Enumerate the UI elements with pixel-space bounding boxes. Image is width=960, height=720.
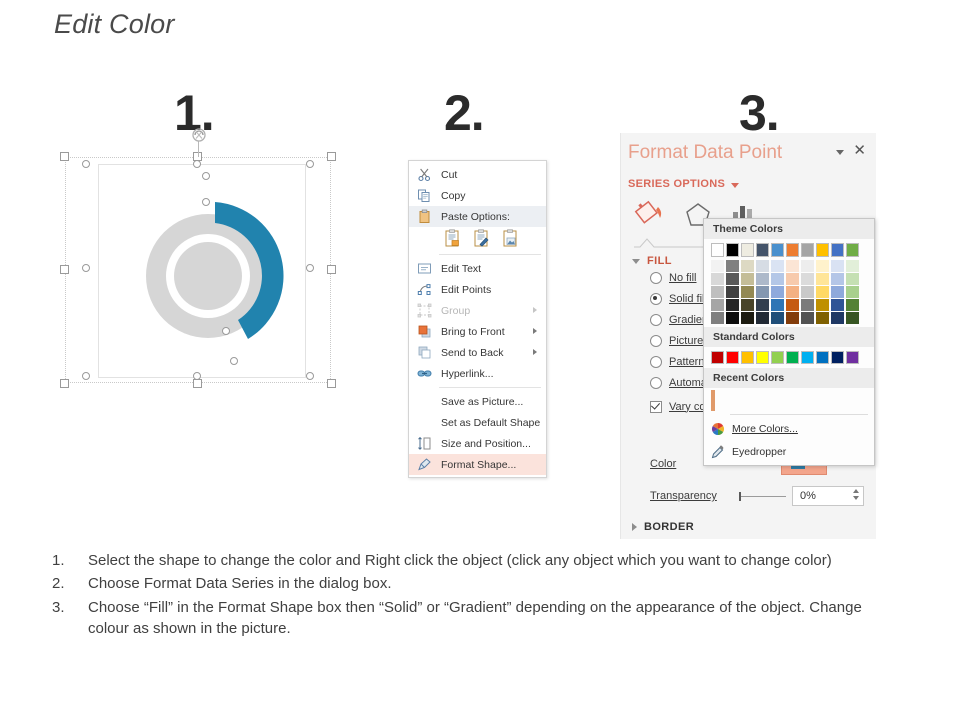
transparency-label: Transparency xyxy=(650,490,736,502)
resize-handle-bottom-right[interactable] xyxy=(327,379,336,388)
resize-handle-top-left[interactable] xyxy=(60,152,69,161)
stepper-down-icon[interactable] xyxy=(853,496,859,500)
group-icon xyxy=(417,303,432,318)
theme-swatch[interactable] xyxy=(831,286,844,298)
radio-button[interactable] xyxy=(650,335,662,347)
theme-swatch[interactable] xyxy=(711,299,724,311)
donut-chart[interactable] xyxy=(120,178,310,368)
theme-swatch[interactable] xyxy=(711,273,724,285)
context-menu-label: Format Shape... xyxy=(441,459,516,471)
copy-icon xyxy=(417,188,432,203)
standard-swatch[interactable] xyxy=(756,351,769,364)
context-menu-label: Send to Back xyxy=(441,347,503,359)
theme-swatch[interactable] xyxy=(756,299,769,311)
resize-handle-top-right[interactable] xyxy=(327,152,336,161)
standard-swatch[interactable] xyxy=(801,351,814,364)
plot-handle-left[interactable] xyxy=(82,264,90,272)
transparency-slider[interactable] xyxy=(736,490,788,502)
theme-swatch[interactable] xyxy=(846,260,859,272)
radio-button[interactable] xyxy=(650,314,662,326)
theme-swatch[interactable] xyxy=(816,260,829,272)
theme-swatch[interactable] xyxy=(786,299,799,311)
datapoint-handle-top-outer[interactable] xyxy=(202,172,210,180)
standard-swatch[interactable] xyxy=(741,351,754,364)
theme-swatch[interactable] xyxy=(831,260,844,272)
theme-swatch[interactable] xyxy=(816,312,829,324)
theme-swatch[interactable] xyxy=(711,286,724,298)
plot-handle-top-right[interactable] xyxy=(306,160,314,168)
plot-handle-bottom-center[interactable] xyxy=(193,372,201,380)
more-colors-label: More Colors... xyxy=(732,423,798,435)
instruction-item: 3. Choose “Fill” in the Format Shape box… xyxy=(52,597,892,640)
theme-swatch[interactable] xyxy=(786,243,799,257)
context-menu-item-group: Group xyxy=(409,300,546,321)
theme-swatch[interactable] xyxy=(831,312,844,324)
theme-swatch[interactable] xyxy=(816,286,829,298)
theme-colors-grid[interactable] xyxy=(704,239,874,327)
context-menu-item-size-and-position[interactable]: Size and Position... xyxy=(409,433,546,454)
chevron-right-icon xyxy=(632,523,637,531)
format-shape-icon xyxy=(417,457,432,472)
paste-use-destination-theme-icon[interactable] xyxy=(472,229,491,248)
theme-swatch[interactable] xyxy=(726,299,739,311)
context-menu-label: Copy xyxy=(441,190,466,202)
context-menu-item-copy[interactable]: Copy xyxy=(409,185,546,206)
eyedropper-label: Eyedropper xyxy=(732,446,786,458)
standard-swatch[interactable] xyxy=(771,351,784,364)
context-menu-item-paste-options[interactable]: Paste Options: xyxy=(409,206,546,227)
theme-swatch[interactable] xyxy=(711,312,724,324)
theme-swatch[interactable] xyxy=(831,243,844,257)
standard-colors-header: Standard Colors xyxy=(704,327,874,347)
transparency-stepper[interactable] xyxy=(853,489,859,500)
theme-swatch[interactable] xyxy=(711,243,724,257)
recent-colors-header: Recent Colors xyxy=(704,368,874,388)
theme-swatch[interactable] xyxy=(846,299,859,311)
rotate-handle-stem xyxy=(198,141,199,157)
instruction-item: 2. Choose Format Data Series in the dial… xyxy=(52,573,892,594)
standard-swatch[interactable] xyxy=(726,351,739,364)
theme-swatch[interactable] xyxy=(801,260,814,272)
chevron-down-icon xyxy=(731,183,739,188)
step-number-2: 2. xyxy=(444,88,484,138)
slider-track xyxy=(740,496,786,497)
context-menu[interactable]: Cut Copy Paste Options: xyxy=(408,160,547,478)
plot-handle-bottom-right[interactable] xyxy=(306,372,314,380)
theme-swatch[interactable] xyxy=(771,243,784,257)
theme-color-column[interactable] xyxy=(756,243,769,324)
instructions-list: 1. Select the shape to change the color … xyxy=(52,550,892,641)
theme-swatch[interactable] xyxy=(816,299,829,311)
stepper-up-icon[interactable] xyxy=(853,489,859,493)
theme-color-column[interactable] xyxy=(846,243,859,324)
context-menu-label: Edit Points xyxy=(441,284,491,296)
context-menu-item-edit-points[interactable]: Edit Points xyxy=(409,279,546,300)
context-menu-item-send-to-back[interactable]: Send to Back xyxy=(409,342,546,363)
resize-handle-middle-left[interactable] xyxy=(60,265,69,274)
context-menu-item-format-shape[interactable]: Format Shape... xyxy=(409,454,546,475)
step-number-3: 3. xyxy=(739,88,779,138)
theme-swatch[interactable] xyxy=(756,243,769,257)
edit-points-icon xyxy=(417,282,432,297)
datapoint-handle-bottom-inner[interactable] xyxy=(222,327,230,335)
theme-color-column[interactable] xyxy=(801,243,814,324)
radio-button[interactable] xyxy=(650,356,662,368)
theme-color-column[interactable] xyxy=(831,243,844,324)
theme-swatch[interactable] xyxy=(741,260,754,272)
theme-swatch[interactable] xyxy=(801,243,814,257)
theme-swatch[interactable] xyxy=(741,312,754,324)
fill-header-label: FILL xyxy=(647,255,672,267)
datapoint-handle-top-inner[interactable] xyxy=(202,198,210,206)
datapoint-handle-bottom-outer[interactable] xyxy=(230,357,238,365)
context-menu-label: Set as Default Shape xyxy=(441,417,540,429)
clipboard-icon xyxy=(417,209,432,224)
standard-colors-row[interactable] xyxy=(704,347,874,368)
picker-separator xyxy=(730,414,868,415)
context-menu-item-bring-to-front[interactable]: Bring to Front xyxy=(409,321,546,342)
theme-swatch[interactable] xyxy=(741,273,754,285)
resize-handle-bottom-left[interactable] xyxy=(60,379,69,388)
series-options-dropdown[interactable]: SERIES OPTIONS xyxy=(628,178,739,190)
border-section-header[interactable]: BORDER xyxy=(632,521,694,533)
theme-swatch[interactable] xyxy=(801,312,814,324)
context-menu-label: Paste Options: xyxy=(441,211,510,223)
fill-option-label: No fill xyxy=(669,272,697,284)
instruction-text: Select the shape to change the color and… xyxy=(88,550,892,571)
context-menu-item-edit-text[interactable]: Edit Text xyxy=(409,258,546,279)
resize-handle-middle-right[interactable] xyxy=(327,265,336,274)
theme-swatch[interactable] xyxy=(726,260,739,272)
context-menu-item-save-as-picture[interactable]: Save as Picture... xyxy=(409,391,546,412)
close-icon[interactable]: ✕ xyxy=(853,143,866,158)
context-menu-item-set-as-default-shape[interactable]: Set as Default Shape xyxy=(409,412,546,433)
submenu-arrow-icon xyxy=(533,307,537,313)
instruction-number: 2. xyxy=(52,573,88,594)
plot-handle-top-left[interactable] xyxy=(82,160,90,168)
instruction-text: Choose “Fill” in the Format Shape box th… xyxy=(88,597,892,640)
theme-swatch[interactable] xyxy=(771,260,784,272)
theme-swatch[interactable] xyxy=(756,273,769,285)
theme-swatch[interactable] xyxy=(846,243,859,257)
slider-thumb[interactable] xyxy=(739,492,741,501)
context-menu-label: Edit Text xyxy=(441,263,481,275)
theme-color-column[interactable] xyxy=(741,243,754,324)
standard-swatch[interactable] xyxy=(711,351,724,364)
theme-swatch[interactable] xyxy=(771,286,784,298)
theme-swatch[interactable] xyxy=(771,299,784,311)
instruction-text: Choose Format Data Series in the dialog … xyxy=(88,573,892,594)
fill-and-line-tab[interactable] xyxy=(634,199,668,236)
theme-swatch[interactable] xyxy=(726,312,739,324)
theme-color-column[interactable] xyxy=(786,243,799,324)
context-menu-item-cut[interactable]: Cut xyxy=(409,164,546,185)
theme-color-column[interactable] xyxy=(771,243,784,324)
context-menu-label: Group xyxy=(441,305,470,317)
eyedropper-action[interactable]: Eyedropper xyxy=(704,440,874,463)
theme-swatch[interactable] xyxy=(846,286,859,298)
checkbox-checked[interactable] xyxy=(650,401,662,413)
theme-swatch[interactable] xyxy=(756,260,769,272)
theme-swatch[interactable] xyxy=(816,243,829,257)
fill-option-label: Solid fill xyxy=(669,293,707,305)
theme-swatch[interactable] xyxy=(741,243,754,257)
color-label: Color xyxy=(650,458,676,470)
rotate-handle[interactable] xyxy=(191,127,207,143)
theme-swatch[interactable] xyxy=(756,312,769,324)
plot-handle-top-center[interactable] xyxy=(193,160,201,168)
theme-swatch[interactable] xyxy=(741,299,754,311)
scissors-icon xyxy=(417,167,432,182)
send-back-icon xyxy=(417,345,432,360)
page-title: Edit Color xyxy=(54,9,175,40)
eyedropper-icon xyxy=(711,445,725,459)
plot-handle-bottom-left[interactable] xyxy=(82,372,90,380)
context-menu-label: Save as Picture... xyxy=(441,396,523,408)
color-wheel-icon xyxy=(711,422,725,436)
context-menu-label: Bring to Front xyxy=(441,326,505,338)
theme-swatch[interactable] xyxy=(846,312,859,324)
recent-colors-row[interactable] xyxy=(704,388,874,413)
theme-swatch[interactable] xyxy=(786,286,799,298)
theme-color-column[interactable] xyxy=(726,243,739,324)
theme-swatch[interactable] xyxy=(816,273,829,285)
theme-swatch[interactable] xyxy=(756,286,769,298)
series-options-label: SERIES OPTIONS xyxy=(628,178,725,190)
size-position-icon xyxy=(417,436,432,451)
theme-swatch[interactable] xyxy=(801,273,814,285)
theme-swatch[interactable] xyxy=(711,260,724,272)
hyperlink-icon xyxy=(417,366,432,381)
standard-swatch[interactable] xyxy=(831,351,844,364)
radio-button[interactable] xyxy=(650,377,662,389)
theme-swatch[interactable] xyxy=(786,260,799,272)
paste-picture-icon[interactable] xyxy=(501,229,520,248)
theme-swatch[interactable] xyxy=(786,312,799,324)
instruction-number: 3. xyxy=(52,597,88,640)
recent-swatch[interactable] xyxy=(711,390,715,411)
edit-text-icon xyxy=(417,261,432,276)
theme-swatch[interactable] xyxy=(786,273,799,285)
color-picker-flyout[interactable]: Theme Colors xyxy=(703,218,875,466)
submenu-arrow-icon xyxy=(533,349,537,355)
theme-swatch[interactable] xyxy=(801,286,814,298)
theme-swatch[interactable] xyxy=(771,273,784,285)
theme-swatch[interactable] xyxy=(846,273,859,285)
transparency-row: Transparency 0% xyxy=(650,485,870,507)
more-colors-action[interactable]: More Colors... xyxy=(704,417,874,440)
paste-options-row[interactable] xyxy=(409,227,546,251)
instruction-item: 1. Select the shape to change the color … xyxy=(52,550,892,571)
context-menu-label: Size and Position... xyxy=(441,438,531,450)
transparency-value: 0% xyxy=(800,490,816,502)
radio-button[interactable] xyxy=(650,272,662,284)
standard-swatch[interactable] xyxy=(786,351,799,364)
chevron-down-icon xyxy=(632,259,640,264)
theme-swatch[interactable] xyxy=(771,312,784,324)
theme-swatch[interactable] xyxy=(831,299,844,311)
menu-separator xyxy=(439,254,541,255)
theme-swatch[interactable] xyxy=(726,286,739,298)
context-menu-item-hyperlink[interactable]: Hyperlink... xyxy=(409,363,546,384)
context-menu-label: Cut xyxy=(441,169,457,181)
pane-title: Format Data Point xyxy=(628,142,782,164)
theme-swatch[interactable] xyxy=(801,299,814,311)
submenu-arrow-icon xyxy=(533,328,537,334)
paste-keep-source-formatting-icon[interactable] xyxy=(443,229,462,248)
radio-button-selected[interactable] xyxy=(650,293,662,305)
standard-swatch[interactable] xyxy=(846,351,859,364)
theme-swatch[interactable] xyxy=(741,286,754,298)
standard-swatch[interactable] xyxy=(816,351,829,364)
pane-divider xyxy=(620,133,621,539)
bring-front-icon xyxy=(417,324,432,339)
instruction-number: 1. xyxy=(52,550,88,571)
chevron-down-icon[interactable] xyxy=(836,150,844,155)
border-header-label: BORDER xyxy=(644,521,694,533)
theme-color-column[interactable] xyxy=(711,243,724,324)
theme-swatch[interactable] xyxy=(726,243,739,257)
theme-swatch[interactable] xyxy=(831,273,844,285)
theme-swatch[interactable] xyxy=(726,273,739,285)
theme-color-column[interactable] xyxy=(816,243,829,324)
theme-colors-header: Theme Colors xyxy=(704,219,874,239)
transparency-input[interactable]: 0% xyxy=(792,486,864,506)
context-menu-label: Hyperlink... xyxy=(441,368,494,380)
resize-handle-bottom-center[interactable] xyxy=(193,379,202,388)
menu-separator xyxy=(439,387,541,388)
